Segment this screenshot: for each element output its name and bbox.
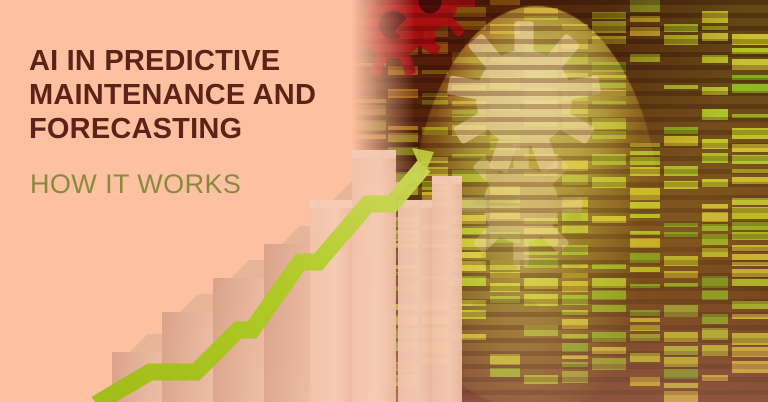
data-bar bbox=[664, 149, 698, 161]
data-bar bbox=[702, 166, 728, 176]
data-bar bbox=[664, 73, 698, 83]
data-bar bbox=[732, 232, 768, 240]
data-bar bbox=[664, 166, 698, 176]
title-line-3: FORECASTING bbox=[29, 112, 349, 146]
data-bar bbox=[732, 84, 768, 93]
data-bar bbox=[732, 188, 768, 196]
data-bar bbox=[702, 65, 728, 75]
data-bar bbox=[630, 64, 660, 76]
data-bar bbox=[664, 240, 698, 252]
data-bar bbox=[664, 92, 698, 99]
data-bar bbox=[664, 24, 698, 32]
data-bar bbox=[702, 248, 728, 257]
data-bar bbox=[732, 59, 768, 70]
data-bar bbox=[702, 55, 728, 63]
data-bar bbox=[664, 127, 698, 134]
data-bar bbox=[702, 179, 728, 187]
data-bar bbox=[732, 19, 768, 29]
data-bar bbox=[592, 0, 626, 8]
banner-root: AI IN PREDICTIVE MAINTENANCE AND FORECAS… bbox=[0, 0, 768, 402]
data-bar bbox=[664, 136, 698, 146]
data-bar bbox=[664, 12, 698, 19]
data-bar bbox=[702, 33, 728, 41]
page-title: AI IN PREDICTIVE MAINTENANCE AND FORECAS… bbox=[29, 44, 349, 146]
data-bar bbox=[732, 207, 768, 219]
data-bar bbox=[630, 0, 660, 12]
title-line-2: MAINTENANCE AND bbox=[29, 78, 349, 112]
data-bar bbox=[732, 128, 768, 139]
data-bar bbox=[702, 153, 728, 163]
data-bar bbox=[702, 122, 728, 134]
data-bar bbox=[702, 139, 728, 149]
data-bar bbox=[702, 44, 728, 51]
data-bar bbox=[702, 191, 728, 201]
data-bar bbox=[664, 103, 698, 112]
data-bar bbox=[732, 144, 768, 152]
data-bar bbox=[664, 0, 698, 9]
data-bar bbox=[732, 34, 768, 45]
data-bar bbox=[630, 54, 660, 62]
data-bar bbox=[702, 11, 728, 23]
data-bar bbox=[664, 271, 698, 278]
data-bar bbox=[702, 224, 728, 231]
data-bar bbox=[732, 177, 768, 184]
data-bar bbox=[732, 269, 768, 277]
data-bar bbox=[664, 193, 698, 204]
data-bar bbox=[732, 198, 768, 205]
data-bar bbox=[702, 109, 728, 120]
data-bar bbox=[702, 100, 728, 107]
data-bar bbox=[630, 39, 660, 50]
data-bar bbox=[702, 260, 728, 271]
page-subtitle: HOW IT WORKS bbox=[30, 168, 241, 200]
data-bar bbox=[702, 212, 728, 222]
data-bar bbox=[732, 155, 768, 164]
data-bar bbox=[702, 234, 728, 245]
data-bar bbox=[732, 222, 768, 230]
data-bar bbox=[630, 27, 660, 36]
data-bar bbox=[732, 98, 768, 110]
data-bar bbox=[664, 209, 698, 220]
data-bar bbox=[664, 35, 698, 45]
data-bar bbox=[664, 256, 698, 266]
data-bar bbox=[732, 0, 768, 7]
gear-cream-small bbox=[456, 140, 586, 270]
data-bar bbox=[664, 181, 698, 189]
data-bar bbox=[702, 87, 728, 95]
data-bar bbox=[630, 81, 660, 89]
title-line-1: AI IN PREDICTIVE bbox=[29, 44, 349, 78]
